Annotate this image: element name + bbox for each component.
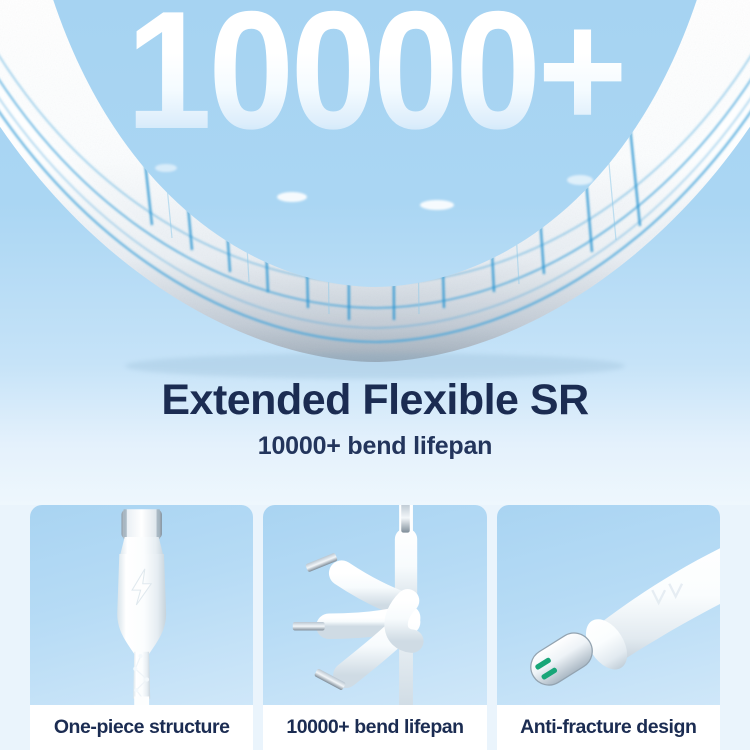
feature-card-anti-fracture-design[interactable]: Anti-fracture design bbox=[497, 505, 720, 750]
page-title: Extended Flexible SR bbox=[0, 378, 750, 423]
cable-specular-dots bbox=[155, 164, 593, 210]
title-block: Extended Flexible SR 10000+ bend lifepan bbox=[0, 378, 750, 461]
feature-card-bend-lifepan[interactable]: 10000+ bend lifepan bbox=[263, 505, 486, 750]
usb-c-tip-angled-icon bbox=[497, 505, 720, 705]
card-image-anti-fracture-design bbox=[497, 505, 720, 705]
card-caption-anti-fracture-design: Anti-fracture design bbox=[497, 705, 720, 750]
usb-c-connector-icon bbox=[30, 505, 253, 705]
bend-arm-upper bbox=[305, 553, 403, 605]
page-subtitle: 10000+ bend lifepan bbox=[0, 432, 750, 461]
card-caption-bend-lifepan: 10000+ bend lifepan bbox=[263, 705, 486, 750]
feature-cards: One-piece structure bbox=[0, 505, 750, 750]
hero-section: 10000+ bbox=[0, 0, 750, 505]
cable-bend-sequence-icon bbox=[263, 505, 486, 705]
card-image-one-piece-structure bbox=[30, 505, 253, 705]
feature-card-one-piece-structure[interactable]: One-piece structure bbox=[30, 505, 253, 750]
card-image-bend-lifepan bbox=[263, 505, 486, 705]
card-caption-one-piece-structure: One-piece structure bbox=[30, 705, 253, 750]
product-feature-page: 10000+ bbox=[0, 0, 750, 750]
